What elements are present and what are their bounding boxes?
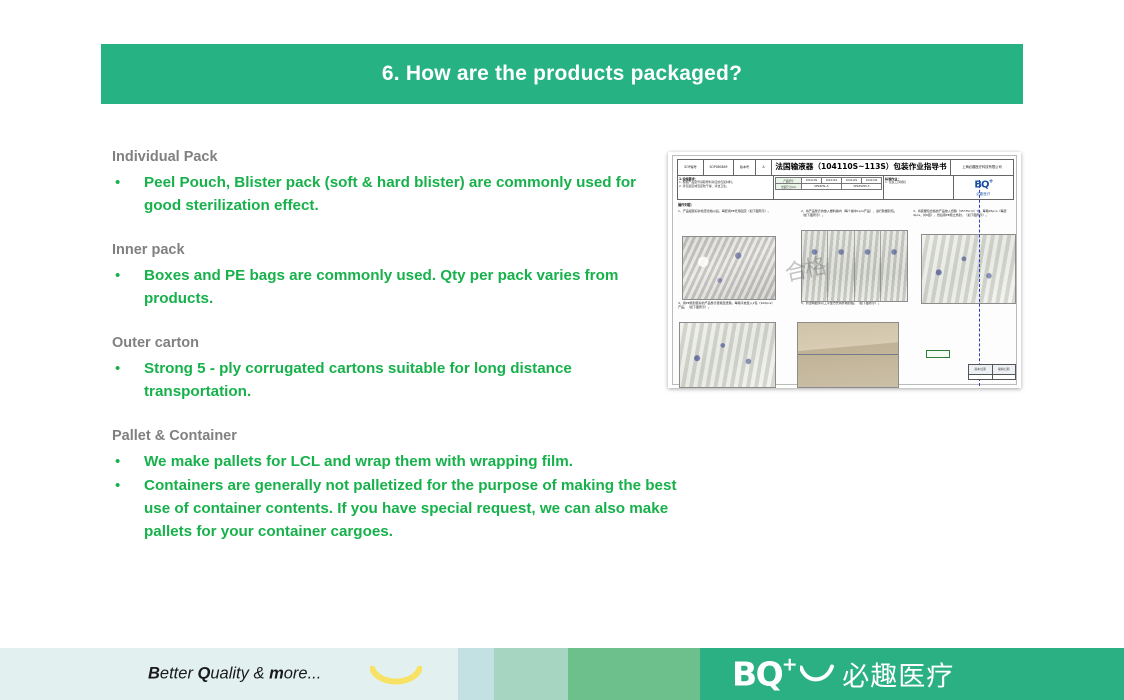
doc-job-value: 1. 包装工序按标 (885, 181, 952, 185)
section-heading: Pallet & Container (112, 426, 677, 447)
footer-band-blue (458, 648, 494, 700)
doc-signoff-table: 版本/日期 编制/日期 (968, 364, 1016, 380)
table-row (969, 375, 1015, 380)
doc-version-value: A (756, 160, 772, 175)
photo-pe-wrapped (679, 322, 776, 388)
bullet-icon: • (112, 474, 144, 497)
footer-logo-plus: + (782, 656, 796, 675)
footer-tagline: Better Quality & more... (148, 665, 321, 684)
doc-step-note: 3、将装塑包合格的产品放入纸箱（45*35cm）中，每箱25pcs（每层4pcs… (913, 209, 1013, 218)
doc-company: 上海必趣医疗科技有限公司 (951, 160, 1013, 175)
list-item: • Boxes and PE bags are commonly used. Q… (112, 264, 677, 310)
spacer (112, 409, 677, 426)
tagline-b: B (148, 665, 160, 683)
doc-sop-no-value: SOP080849 (704, 160, 734, 175)
content-column: Individual Pack • Peel Pouch, Blister pa… (112, 147, 677, 549)
packaging-work-instruction-image: SOP编号 SOP080849 版本号 A 法国输液器（104110S~113S… (668, 152, 1021, 388)
section-inner-pack: Inner pack • Boxes and PE bags are commo… (112, 240, 677, 310)
section-heading: Inner pack (112, 240, 677, 261)
doc-logo-mark: BQ+ (974, 179, 992, 190)
tagline-q: Q (198, 665, 211, 683)
section-individual-pack: Individual Pack • Peel Pouch, Blister pa… (112, 147, 677, 217)
doc-spec-table: 产品型号 104110S 104111S 104112S 104113S 全装尺… (775, 177, 882, 190)
doc-sop-no-label: SOP编号 (678, 160, 704, 175)
bullet-icon: • (112, 171, 144, 194)
doc-step-note: 1、产品组装好并检查合格以后，每套用PE托用固定（如下图所示）。 (678, 209, 774, 213)
photo-cell (828, 231, 854, 301)
photo-cell (881, 231, 907, 301)
list-item: • Containers are generally not palletize… (112, 474, 677, 543)
photo-iv-set (682, 236, 776, 300)
footer-band-green (568, 648, 700, 700)
document-header-table: SOP编号 SOP080849 版本号 A 法国输液器（104110S~113S… (677, 159, 1014, 176)
list-item: • Peel Pouch, Blister pack (soft & hard … (112, 171, 677, 217)
swoosh-icon (800, 664, 834, 684)
document-subheader-table: 1.设施要求： 1. 根据产品型号领取塑料对应的包装材料； 2. 待包装区域温度… (677, 176, 1014, 200)
bullet-icon: • (112, 264, 144, 287)
spacer (112, 223, 677, 240)
section-pallet-container: Pallet & Container • We make pallets for… (112, 426, 677, 543)
tagline-ore: ore... (284, 665, 322, 683)
doc-signoff-value (993, 375, 1016, 380)
footer-logo-text: BQ (732, 655, 782, 694)
doc-brand-logo: BQ+ 必趣医疗 (954, 176, 1013, 199)
tagline-etter: etter (160, 665, 198, 683)
doc-signoff-header: 编制/日期 (993, 365, 1016, 374)
bullet-text: Peel Pouch, Blister pack (soft & hard bl… (144, 171, 677, 217)
footer-band-mint (494, 648, 568, 700)
doc-dashed-divider (979, 180, 980, 386)
doc-requirements-cell: 1.设施要求： 1. 根据产品型号领取塑料对应的包装材料； 2. 待包装区域温度… (678, 176, 774, 199)
doc-signoff-header: 版本/日期 (969, 365, 993, 374)
section-heading: Individual Pack (112, 147, 677, 168)
photo-inner-box (921, 234, 1016, 304)
doc-size-label: 全装尺寸/cm (776, 184, 802, 190)
bullet-text: Strong 5 - ply corrugated cartons suitab… (144, 357, 677, 403)
doc-signoff-value (969, 375, 993, 380)
slide-title-banner: 6. How are the products packaged? (101, 44, 1023, 104)
bullet-text: Containers are generally not palletized … (144, 474, 677, 543)
doc-green-callout-box (926, 350, 950, 358)
page-title: 6. How are the products packaged? (382, 62, 742, 86)
doc-job-cell: 标准作业： 1. 包装工序按标 (884, 176, 954, 199)
doc-size-value: SPS#PSL-5 (801, 184, 841, 190)
list-item: • We make pallets for LCL and wrap them … (112, 450, 677, 473)
bullet-text: Boxes and PE bags are commonly used. Qty… (144, 264, 677, 310)
tagline-uality: uality & (210, 665, 269, 683)
footer-band-pale: Better Quality & more... (0, 648, 458, 700)
bullet-icon: • (112, 357, 144, 380)
section-outer-carton: Outer carton • Strong 5 - ply corrugated… (112, 333, 677, 403)
doc-logo-text: BQ (974, 180, 988, 191)
doc-logo-plus: + (989, 178, 993, 185)
footer-logo-cn: 必趣医疗 (842, 655, 954, 694)
spacer (112, 316, 677, 333)
document-page: SOP编号 SOP080849 版本号 A 法国输液器（104110S~113S… (672, 155, 1017, 385)
doc-step-note: 4、用PE膜封装好的产品整齐装箱至纸箱，每箱平放置入2包（100pcs）产品。（… (678, 301, 774, 310)
footer-band-dark: BQ+ 必趣医疗 (700, 648, 1124, 700)
doc-version-label: 版本号 (734, 160, 756, 175)
doc-spec-cell: 产品型号 104110S 104111S 104112S 104113S 全装尺… (774, 176, 884, 199)
doc-size-value: SPS#SPS5-5 (841, 184, 881, 190)
photo-sealed-carton (797, 322, 899, 388)
doc-steps-label: 操作列程： (678, 202, 694, 207)
tagline-m: m (269, 665, 284, 683)
footer-logo-mark: BQ+ (732, 658, 782, 691)
doc-title: 法国输液器（104110S~113S）包装作业指导书 (772, 160, 951, 175)
list-item: • Strong 5 - ply corrugated cartons suit… (112, 357, 677, 403)
footer-brand-logo: BQ+ 必趣医疗 (732, 655, 954, 694)
doc-step-note: 2、将产品整齐的放入塑料袋内（每个袋中1pcs产品），进行软塑封包。（如下图所示… (801, 209, 897, 218)
doc-requirements-line2: 2. 待包装区域温度较干燥、清洁卫生。 (679, 185, 772, 189)
table-row: 版本/日期 编制/日期 (969, 365, 1015, 375)
bullet-text: We make pallets for LCL and wrap them wi… (144, 450, 677, 473)
photo-cell (855, 231, 881, 301)
slide-footer: Better Quality & more... BQ+ 必趣医疗 (0, 648, 1124, 700)
smile-icon (370, 666, 422, 688)
bullet-icon: • (112, 450, 144, 473)
section-heading: Outer carton (112, 333, 677, 354)
